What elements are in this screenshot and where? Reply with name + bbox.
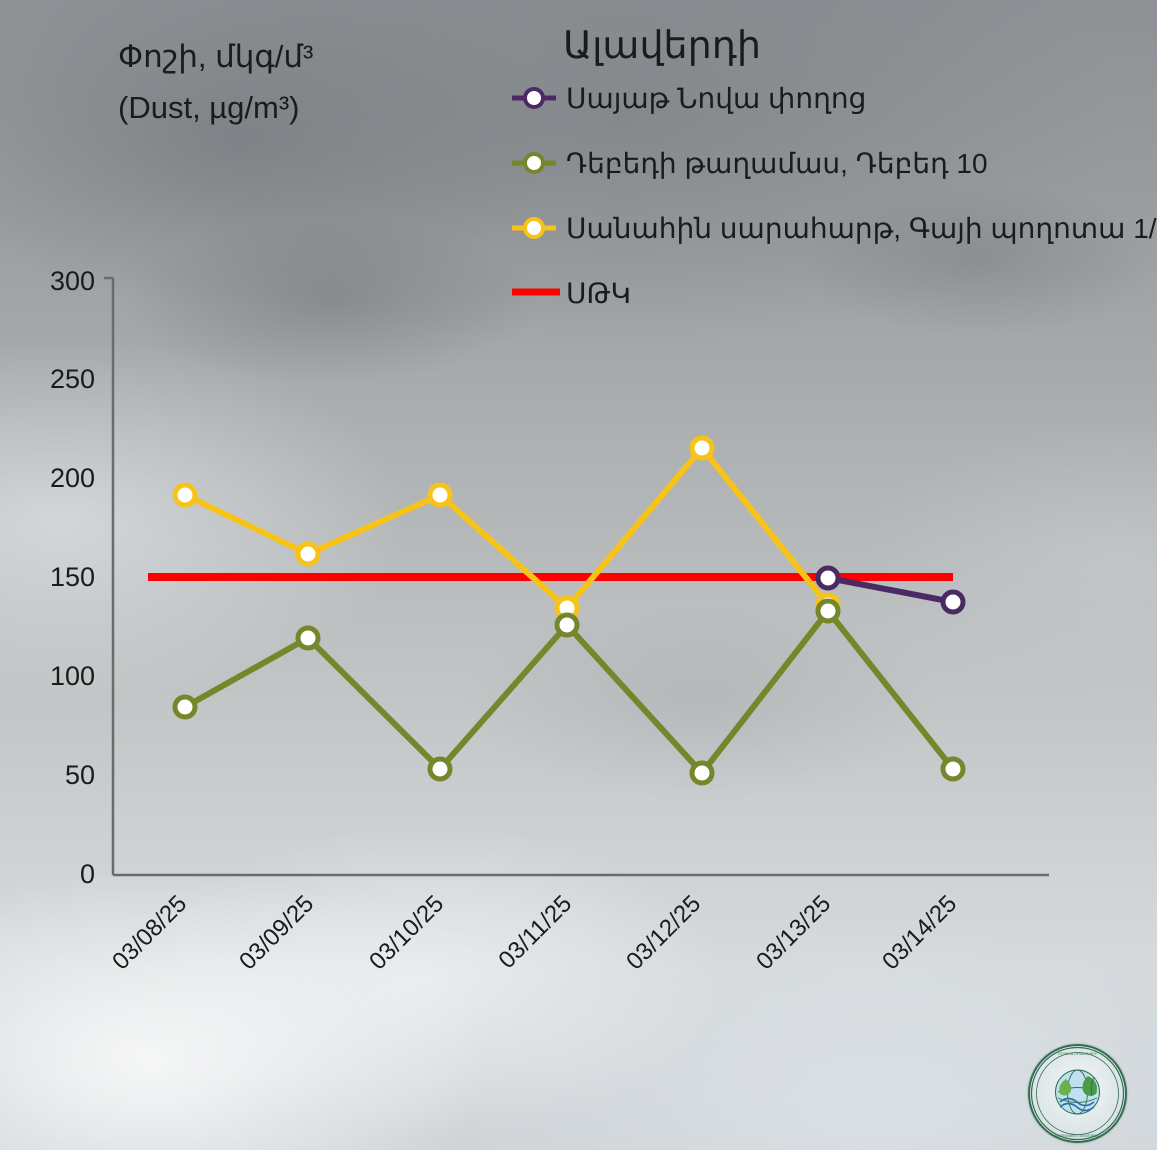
y-tick-0: 0 <box>80 859 95 889</box>
data-point <box>557 615 577 635</box>
y-axis-label-line1: Փոշի, մկգ/մ³ <box>118 39 313 74</box>
chart-legend: Սայաթ Նովա փողոց Դեբեդի թաղամաս, Դեբեդ 1… <box>512 83 1157 309</box>
y-tick-100: 100 <box>50 661 95 691</box>
legend-label-0: Սայաթ Նովա փողոց <box>566 83 866 114</box>
legend-label-2: Սանահին սարահարթ, Գայի պողոտա 1/11 <box>566 213 1157 244</box>
y-axis-ticks: 300 250 200 150 100 50 0 <box>50 266 95 889</box>
data-point <box>692 438 712 458</box>
data-point <box>175 697 195 717</box>
y-axis-label-line2: (Dust, µg/m³) <box>118 90 299 125</box>
series-sanahin-saraharti <box>175 438 838 618</box>
chart-title: Ալավերդի <box>563 25 761 67</box>
data-point <box>818 601 838 621</box>
data-point <box>943 759 963 779</box>
svg-text:ՇՐՋԱԿԱ ՄԻՋԱՎԱՅՐԻ: ՇՐՋԱԿԱ ՄԻՋԱՎԱՅՐԻ <box>1058 1052 1097 1056</box>
data-point <box>943 592 963 612</box>
dust-line-chart: Փոշի, մկգ/մ³ (Dust, µg/m³) Ալավերդի Սայա… <box>0 0 1157 1150</box>
x-tick-0: 03/08/25 <box>107 890 192 975</box>
x-tick-4: 03/12/25 <box>621 890 706 975</box>
y-tick-200: 200 <box>50 463 95 493</box>
legend-item-debedi-taghamas: Դեբեդի թաղամաս, Դեբեդ 10 <box>512 148 988 179</box>
y-tick-300: 300 <box>50 266 95 296</box>
y-tick-150: 150 <box>50 562 95 592</box>
data-point <box>298 544 318 564</box>
data-point <box>818 568 838 588</box>
data-point <box>298 628 318 648</box>
ministry-of-environment-logo: ՇՐՋԱԿԱ ՄԻՋԱՎԱՅՐԻ ENVIRONMENT MONITORING <box>1028 1044 1127 1143</box>
legend-item-threshold: ՍԹԿ <box>512 278 631 309</box>
svg-text:ENVIRONMENT MONITORING: ENVIRONMENT MONITORING <box>1055 1134 1101 1138</box>
x-tick-5: 03/13/25 <box>751 890 836 975</box>
y-tick-50: 50 <box>65 760 95 790</box>
data-point <box>175 485 195 505</box>
data-point <box>430 759 450 779</box>
legend-item-sanahin-saraharti: Սանահին սարահարթ, Գայի պողոտա 1/11 <box>512 213 1157 244</box>
data-point <box>692 763 712 783</box>
x-tick-1: 03/09/25 <box>234 890 319 975</box>
x-tick-6: 03/14/25 <box>877 890 962 975</box>
legend-label-1: Դեբեդի թաղամաս, Դեբեդ 10 <box>566 148 988 179</box>
x-axis-ticks: 03/08/25 03/09/25 03/10/25 03/11/25 03/1… <box>107 890 962 975</box>
y-tick-250: 250 <box>50 364 95 394</box>
legend-item-sayat-nova: Սայաթ Նովա փողոց <box>512 83 866 114</box>
legend-label-3: ՍԹԿ <box>566 278 631 309</box>
data-point <box>430 485 450 505</box>
series-debedi-taghamas <box>175 601 963 783</box>
x-tick-3: 03/11/25 <box>493 890 577 974</box>
x-tick-2: 03/10/25 <box>364 890 449 975</box>
